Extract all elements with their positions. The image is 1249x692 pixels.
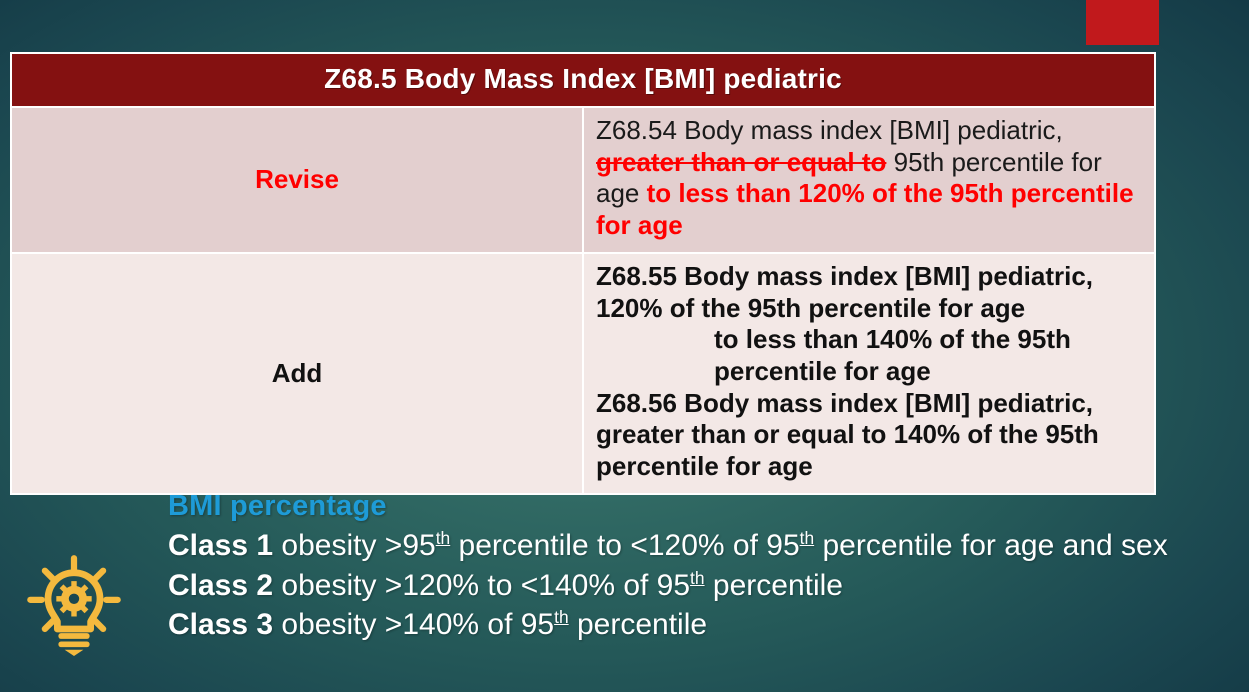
bmi-class-text-a: obesity >120% to <140% of 95 — [273, 569, 690, 602]
bmi-class-name: Class 2 — [168, 569, 273, 602]
add-code-line-1: Z68.55 Body mass index [BMI] pediatric, … — [596, 261, 1093, 323]
table-header-row: Z68.5 Body Mass Index [BMI] pediatric — [11, 53, 1155, 107]
add-code-line-2: to less than 140% of the 95th percentile… — [596, 324, 1144, 387]
red-accent-block — [1086, 0, 1159, 45]
lightbulb-gear-icon — [22, 552, 126, 656]
bmi-percentage-note: BMI percentage Class 1 obesity >95th per… — [168, 487, 1198, 645]
revise-struck-text: greater than or equal to — [596, 147, 886, 177]
ordinal-suffix: th — [800, 528, 815, 548]
code-change-table: Z68.5 Body Mass Index [BMI] pediatric Re… — [10, 52, 1156, 495]
ordinal-suffix: th — [690, 568, 705, 588]
row-label-revise: Revise — [11, 107, 583, 253]
ordinal-suffix: th — [436, 528, 451, 548]
bmi-class-line: Class 2 obesity >120% to <140% of 95th p… — [168, 566, 1198, 606]
bmi-class-text-a: obesity >95 — [273, 529, 436, 562]
bmi-class-line: Class 3 obesity >140% of 95th percentile — [168, 605, 1198, 645]
ordinal-suffix: th — [554, 607, 569, 627]
bmi-class-text-a: obesity >140% of 95 — [273, 608, 554, 641]
bmi-class-name: Class 3 — [168, 608, 273, 641]
table-title: Z68.5 Body Mass Index [BMI] pediatric — [11, 53, 1155, 107]
bmi-class-text-b: percentile — [569, 608, 707, 641]
table-row: Revise Z68.54 Body mass index [BMI] pedi… — [11, 107, 1155, 253]
bmi-class-line: Class 1 obesity >95th percentile to <120… — [168, 526, 1198, 566]
table-row: Add Z68.55 Body mass index [BMI] pediatr… — [11, 253, 1155, 494]
revise-added-text: to less than 120% of the 95th percentile… — [596, 178, 1134, 240]
add-code-line-3: Z68.56 Body mass index [BMI] pediatric, … — [596, 388, 1099, 481]
row-content-add: Z68.55 Body mass index [BMI] pediatric, … — [583, 253, 1155, 494]
bmi-class-name: Class 1 — [168, 529, 273, 562]
bmi-note-title: BMI percentage — [168, 487, 1198, 525]
bmi-class-text-b: percentile to <120% of 95 — [450, 529, 799, 562]
bmi-class-text-c: percentile for age and sex — [814, 529, 1168, 562]
revise-plain-text-1: Z68.54 Body mass index [BMI] pediatric, — [596, 115, 1063, 145]
row-content-revise: Z68.54 Body mass index [BMI] pediatric, … — [583, 107, 1155, 253]
bmi-class-text-b: percentile — [705, 569, 843, 602]
row-label-add: Add — [11, 253, 583, 494]
